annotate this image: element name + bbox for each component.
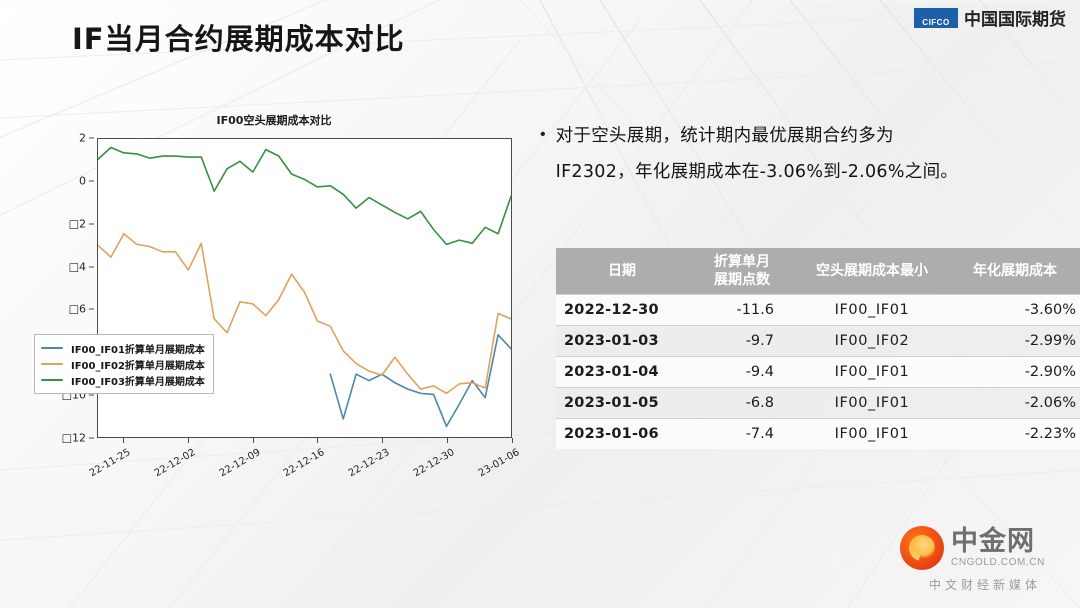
watermark-text: 中金网 CNGOLD.COM.CN [951,528,1045,568]
top-divider [0,0,1080,3]
legend-swatch [41,363,63,366]
cell-contract: IF00_IF01 [796,357,948,388]
x-tick-label: 22-12-23 [338,447,392,485]
legend-item-2[interactable]: IF00_IF03折算单月展期成本 [41,372,205,388]
x-tick-label: 22-12-09 [208,447,262,485]
cell-contract: IF00_IF01 [796,295,948,326]
watermark-row: 中金网 CNGOLD.COM.CN [900,526,1070,570]
bullet-block: • 对于空头展期，统计期内最优展期合约多为 IF2302，年化展期成本在-3.0… [540,118,1050,190]
cifco-mark: CIFCO [914,8,958,28]
legend-item-0[interactable]: IF00_IF01折算单月展期成本 [41,340,205,356]
watermark-url: CNGOLD.COM.CN [951,558,1045,568]
cngold-logo-icon [900,526,944,570]
cell-date: 2023-01-03 [556,326,688,357]
cell-points: -9.4 [688,357,796,388]
y-tick-mark [89,138,94,139]
brand-name: 中国国际期货 [964,5,1066,30]
chart-title: IF00空头展期成本对比 [18,112,530,128]
watermark: 中金网 CNGOLD.COM.CN 中文财经新媒体 [900,526,1070,602]
table-row[interactable]: 2023-01-05-6.8IF00_IF01-2.06% [556,388,1080,419]
cell-annual: -2.23% [948,419,1080,450]
table-row[interactable]: 2023-01-06-7.4IF00_IF01-2.23% [556,419,1080,450]
y-tick-label: □2 [69,217,86,230]
cell-contract: IF00_IF01 [796,419,948,450]
table-row[interactable]: 2023-01-03-9.7IF00_IF02-2.99% [556,326,1080,357]
y-tick-mark [89,180,94,181]
summary-table: 日期 折算单月 展期点数 空头展期成本最小 年化展期成本 2022-12-30-… [556,248,1080,449]
cell-points: -7.4 [688,419,796,450]
legend-swatch [41,379,63,382]
watermark-name: 中金网 [951,528,1045,555]
cell-annual: -3.60% [948,295,1080,326]
cell-date: 2022-12-30 [556,295,688,326]
cell-date: 2023-01-06 [556,419,688,450]
swirl-icon [906,532,938,564]
y-tick-label: □4 [69,260,86,273]
x-tick-mark [382,438,383,443]
y-tick-mark [89,223,94,224]
cell-contract: IF00_IF02 [796,326,948,357]
th-min-contract: 空头展期成本最小 [796,248,948,295]
y-tick-label: □12 [62,432,86,445]
chart-panel: IF00空头展期成本对比 20□2□4□6□8□10□12 22-11-2522… [18,112,530,484]
cell-points: -11.6 [688,295,796,326]
cell-points: -9.7 [688,326,796,357]
table-body: 2022-12-30-11.6IF00_IF01-3.60%2023-01-03… [556,295,1080,450]
legend-label: IF00_IF02折算单月展期成本 [71,357,205,372]
legend-label: IF00_IF01折算单月展期成本 [71,341,205,356]
table-header-row: 日期 折算单月 展期点数 空头展期成本最小 年化展期成本 [556,248,1080,295]
bullet-marker: • [540,118,546,190]
series-line-0 [330,335,511,427]
cell-annual: -2.99% [948,326,1080,357]
chart-legend: IF00_IF01折算单月展期成本IF00_IF02折算单月展期成本IF00_I… [34,334,214,394]
cell-annual: -2.90% [948,357,1080,388]
chart-x-axis: 22-11-2522-12-0222-12-0922-12-1622-12-23… [97,438,512,484]
x-tick-mark [123,438,124,443]
x-tick-mark [188,438,189,443]
y-tick-mark [89,266,94,267]
cell-date: 2023-01-05 [556,388,688,419]
summary-table-wrap: 日期 折算单月 展期点数 空头展期成本最小 年化展期成本 2022-12-30-… [556,248,1034,449]
y-tick-label: 2 [79,132,86,145]
watermark-tagline: 中文财经新媒体 [900,576,1070,593]
y-tick-mark [89,438,94,439]
x-tick-label: 22-12-02 [143,447,197,485]
page-title: IF当月合约展期成本对比 [72,16,405,58]
cell-annual: -2.06% [948,388,1080,419]
x-tick-mark [317,438,318,443]
table-row[interactable]: 2022-12-30-11.6IF00_IF01-3.60% [556,295,1080,326]
th-points: 折算单月 展期点数 [688,248,796,295]
th-date: 日期 [556,248,688,295]
series-line-2 [98,148,511,245]
x-tick-label: 23-01-06 [468,447,522,485]
x-tick-label: 22-12-30 [403,447,457,485]
legend-label: IF00_IF03折算单月展期成本 [71,373,205,388]
y-tick-mark [89,395,94,396]
th-annual-cost: 年化展期成本 [948,248,1080,295]
y-tick-label: 0 [79,174,86,187]
x-tick-label: 22-11-25 [78,447,132,485]
bullet-line-2: IF2302，年化展期成本在-3.06%到-2.06%之间。 [556,154,959,190]
cell-date: 2023-01-04 [556,357,688,388]
y-tick-label: □6 [69,303,86,316]
y-tick-mark [89,309,94,310]
slide-root: CIFCO 中国国际期货 IF当月合约展期成本对比 IF00空头展期成本对比 2… [0,0,1080,608]
bullet-line-1: 对于空头展期，统计期内最优展期合约多为 [556,118,959,154]
table-row[interactable]: 2023-01-04-9.4IF00_IF01-2.90% [556,357,1080,388]
brand-logo: CIFCO 中国国际期货 [914,5,1066,30]
x-tick-mark [253,438,254,443]
x-tick-label: 22-12-16 [273,447,327,485]
cell-points: -6.8 [688,388,796,419]
cell-contract: IF00_IF01 [796,388,948,419]
legend-item-1[interactable]: IF00_IF02折算单月展期成本 [41,356,205,372]
legend-swatch [41,347,63,350]
table-head: 日期 折算单月 展期点数 空头展期成本最小 年化展期成本 [556,248,1080,295]
x-tick-mark [512,438,513,443]
x-tick-mark [447,438,448,443]
